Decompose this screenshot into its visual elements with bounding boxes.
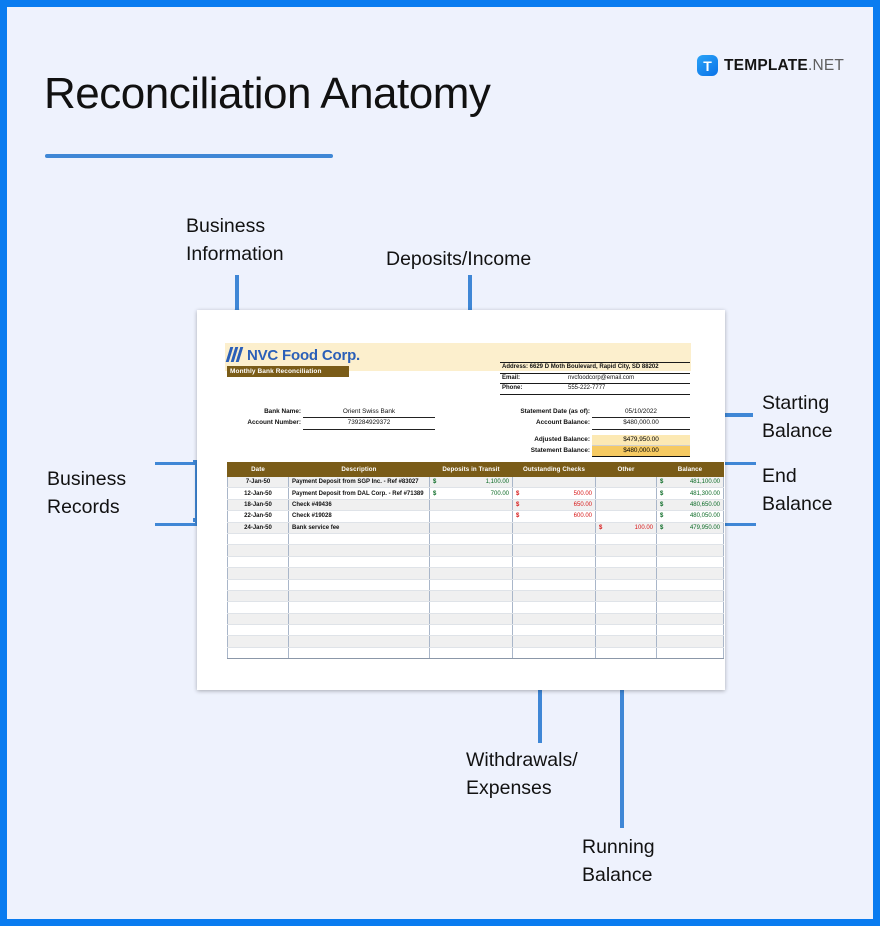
cell-balance: $481,100.00 [657,477,724,488]
cell-description [289,556,430,567]
annotation-starting-balance: Starting Balance [762,389,832,446]
cell-deposit-in-transit: $1,100.00 [430,477,513,488]
table-row [228,636,724,647]
table-row: 7-Jan-50Payment Deposit from SGP Inc. - … [228,477,724,488]
annotation-running-balance-line2: Balance [582,861,655,889]
contact-phone-value: 555-222-7777 [566,384,690,395]
cell-deposit-in-transit [430,533,513,544]
adjusted-balance-value: $479,950.00 [592,435,690,446]
cell-date [228,568,289,579]
cell-other: $100.00 [596,522,657,533]
cell-outstanding-check [513,533,596,544]
company-branding: NVC Food Corp. [227,346,360,363]
annotation-business-records-line1: Business [47,465,126,493]
cell-description: Check #49436 [289,499,430,510]
cell-deposit-in-transit [430,625,513,636]
cell-description [289,602,430,613]
table-row [228,579,724,590]
cell-date [228,602,289,613]
annotation-end-balance: End Balance [762,462,832,519]
cell-date [228,533,289,544]
cell-outstanding-check [513,522,596,533]
cell-other [596,511,657,522]
table-row [228,545,724,556]
column-header-balance: Balance [657,463,724,477]
cell-balance: $479,950.00 [657,522,724,533]
cell-other [596,613,657,624]
bank-name-value: Orient Swiss Bank [303,407,435,418]
template-net-logo: T TEMPLATE.NET [697,55,844,76]
table-row [228,533,724,544]
cell-deposit-in-transit [430,602,513,613]
title-underline-rule [45,154,333,158]
annotation-withdrawals-expenses-line1: Withdrawals/ [466,746,578,774]
cell-description: Check #19028 [289,511,430,522]
statement-row-statement-balance: Statement Balance: $480,000.00 [500,445,690,456]
cell-balance [657,579,724,590]
cell-date: 24-Jan-50 [228,522,289,533]
contact-email-label: Email: [500,373,566,384]
cell-deposit-in-transit [430,511,513,522]
contact-row-phone: Phone: 555-222-7777 [500,384,690,395]
cell-other [596,579,657,590]
cell-deposit-in-transit [430,579,513,590]
company-name: NVC Food Corp. [247,348,360,363]
cell-description [289,568,430,579]
cell-deposit-in-transit [430,522,513,533]
cell-date: 7-Jan-50 [228,477,289,488]
cell-date [228,636,289,647]
cell-balance [657,590,724,601]
template-logo-text: TEMPLATE.NET [724,57,844,75]
annotation-starting-balance-line2: Balance [762,417,832,445]
cell-balance [657,568,724,579]
poster-canvas: T TEMPLATE.NET Reconciliation Anatomy Bu… [0,0,880,926]
cell-outstanding-check [513,556,596,567]
cell-outstanding-check [513,636,596,647]
cell-description [289,625,430,636]
cell-outstanding-check: $650.00 [513,499,596,510]
table-row [228,647,724,658]
cell-description: Payment Deposit from DAL Corp. - Ref #71… [289,488,430,499]
cell-other [596,568,657,579]
account-number-label: Account Number: [227,418,303,429]
contact-email-value: nvcfoodcorp@email.com [566,373,690,384]
statement-date-label: Statement Date (as of): [500,407,592,418]
page-title: Reconciliation Anatomy [44,69,490,119]
annotation-business-records: Business Records [47,465,126,522]
bank-info-table: Bank Name: Orient Swiss Bank Account Num… [227,407,435,430]
cell-outstanding-check [513,590,596,601]
cell-other [596,477,657,488]
logo-text-bold: TEMPLATE [724,57,808,74]
cell-other [596,636,657,647]
table-row: 24-Jan-50Bank service fee$100.00$479,950… [228,522,724,533]
cell-other [596,533,657,544]
statement-row-date: Statement Date (as of): 05/10/2022 [500,407,690,418]
cell-date [228,625,289,636]
cell-description [289,647,430,658]
ledger-body: 7-Jan-50Payment Deposit from SGP Inc. - … [228,477,724,659]
cell-other [596,488,657,499]
contact-phone-label: Phone: [500,384,566,395]
cell-deposit-in-transit [430,568,513,579]
cell-other [596,590,657,601]
cell-balance [657,556,724,567]
adjusted-balance-label: Adjusted Balance: [500,435,592,446]
table-row [228,613,724,624]
cell-date: 18-Jan-50 [228,499,289,510]
annotation-end-balance-line2: Balance [762,490,832,518]
cell-balance [657,625,724,636]
document-subtitle: Monthly Bank Reconciliation [227,366,349,377]
table-row [228,556,724,567]
annotation-business-information-line2: Information [186,240,284,268]
cell-other [596,647,657,658]
table-row [228,568,724,579]
cell-outstanding-check: $600.00 [513,511,596,522]
annotation-withdrawals-expenses-line2: Expenses [466,774,578,802]
account-number-value: 739284929372 [303,418,435,429]
ledger-header-row: Date Description Deposits in Transit Out… [228,463,724,477]
column-header-date: Date [228,463,289,477]
cell-outstanding-check [513,647,596,658]
cell-outstanding-check [513,545,596,556]
cell-other [596,545,657,556]
cell-balance: $480,650.00 [657,499,724,510]
cell-description [289,636,430,647]
annotation-withdrawals-expenses: Withdrawals/ Expenses [466,746,578,803]
table-row [228,625,724,636]
table-row: 12-Jan-50Payment Deposit from DAL Corp. … [228,488,724,499]
nvc-logo-icon [227,346,244,363]
cell-balance: $481,300.00 [657,488,724,499]
bank-row-account: Account Number: 739284929372 [227,418,435,429]
cell-description [289,613,430,624]
cell-balance [657,647,724,658]
account-balance-label: Account Balance: [500,418,592,429]
contact-address: Address: 6629 D Moth Boulevard, Rapid Ci… [500,363,690,374]
cell-description [289,545,430,556]
statement-balance-label: Statement Balance: [500,445,592,456]
cell-deposit-in-transit: $700.00 [430,488,513,499]
cell-other [596,556,657,567]
cell-outstanding-check [513,568,596,579]
account-balance-value: $480,000.00 [592,418,690,429]
cell-deposit-in-transit [430,636,513,647]
annotation-end-balance-line1: End [762,462,832,490]
annotation-running-balance-line1: Running [582,833,655,861]
annotation-business-information: Business Information [186,212,284,269]
annotation-business-records-line2: Records [47,493,126,521]
cell-date [228,647,289,658]
bracket-business-records [155,462,198,526]
cell-description: Payment Deposit from SGP Inc. - Ref #830… [289,477,430,488]
cell-outstanding-check: $500.00 [513,488,596,499]
reconciliation-ledger-table: Date Description Deposits in Transit Out… [227,462,724,659]
column-header-description: Description [289,463,430,477]
annotation-deposits-income-line1: Deposits/Income [386,245,531,273]
annotation-business-information-line1: Business [186,212,284,240]
table-row: 18-Jan-50Check #49436$650.00$480,650.00 [228,499,724,510]
statement-row-adjusted-balance: Adjusted Balance: $479,950.00 [500,435,690,446]
cell-other [596,499,657,510]
contact-row-email: Email: nvcfoodcorp@email.com [500,373,690,384]
contact-info-table: Address: 6629 D Moth Boulevard, Rapid Ci… [500,362,690,395]
table-row [228,602,724,613]
cell-deposit-in-transit [430,556,513,567]
template-logo-icon: T [697,55,718,76]
cell-outstanding-check [513,613,596,624]
cell-deposit-in-transit [430,647,513,658]
cell-outstanding-check [513,477,596,488]
annotation-starting-balance-line1: Starting [762,389,832,417]
statement-balance-table: Statement Date (as of): 05/10/2022 Accou… [500,407,690,457]
column-header-deposits-in-transit: Deposits in Transit [430,463,513,477]
statement-balance-value: $480,000.00 [592,445,690,456]
cell-description [289,579,430,590]
cell-balance [657,636,724,647]
reconciliation-document: NVC Food Corp. Monthly Bank Reconciliati… [197,310,725,690]
cell-date [228,590,289,601]
table-row [228,590,724,601]
cell-date [228,556,289,567]
cell-description [289,590,430,601]
logo-text-light: .NET [808,57,844,74]
annotation-running-balance: Running Balance [582,833,655,890]
column-header-other: Other [596,463,657,477]
cell-outstanding-check [513,579,596,590]
cell-deposit-in-transit [430,613,513,624]
bank-row-name: Bank Name: Orient Swiss Bank [227,407,435,418]
cell-date: 12-Jan-50 [228,488,289,499]
cell-balance [657,533,724,544]
cell-balance [657,613,724,624]
cell-date [228,545,289,556]
bank-name-label: Bank Name: [227,407,303,418]
cell-balance [657,545,724,556]
cell-description: Bank service fee [289,522,430,533]
cell-deposit-in-transit [430,545,513,556]
cell-deposit-in-transit [430,590,513,601]
cell-date: 22-Jan-50 [228,511,289,522]
cell-other [596,625,657,636]
cell-deposit-in-transit [430,499,513,510]
cell-balance [657,602,724,613]
contact-row-address: Address: 6629 D Moth Boulevard, Rapid Ci… [500,363,690,374]
cell-description [289,533,430,544]
cell-balance: $480,050.00 [657,511,724,522]
column-header-outstanding-checks: Outstanding Checks [513,463,596,477]
statement-row-account-balance: Account Balance: $480,000.00 [500,418,690,429]
cell-outstanding-check [513,602,596,613]
statement-date-value: 05/10/2022 [592,407,690,418]
cell-date [228,579,289,590]
cell-date [228,613,289,624]
table-row: 22-Jan-50Check #19028$600.00$480,050.00 [228,511,724,522]
cell-outstanding-check [513,625,596,636]
annotation-deposits-income: Deposits/Income [386,245,531,273]
cell-other [596,602,657,613]
